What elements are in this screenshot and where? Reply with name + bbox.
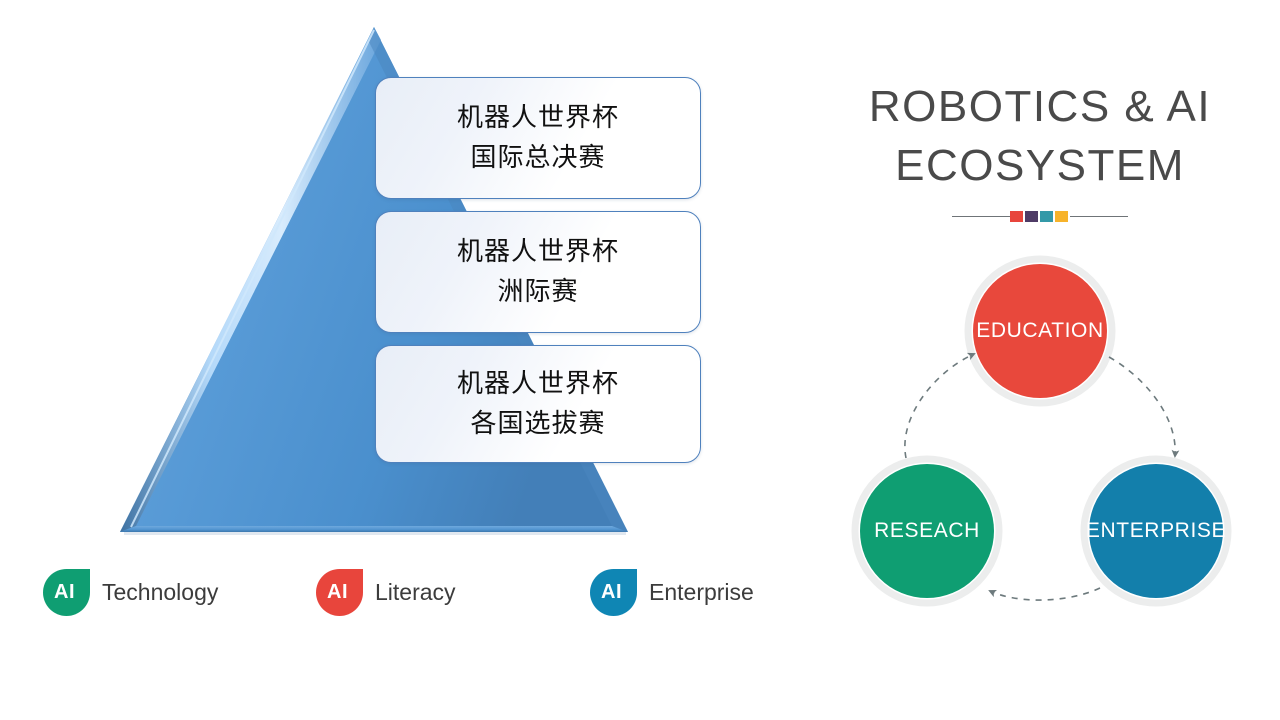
divider-square-teal — [1040, 211, 1053, 222]
divider-rule-left — [952, 216, 1010, 218]
divider-square-yellow — [1055, 211, 1068, 222]
title-line-1: ROBOTICS & AI — [820, 78, 1260, 137]
legend-item-literacy[interactable]: AI Literacy — [316, 569, 456, 616]
level-line-2: 各国选拔赛 — [470, 404, 605, 444]
legend-item-enterprise[interactable]: AI Enterprise — [590, 569, 754, 616]
level-line-1: 机器人世界杯 — [457, 232, 619, 272]
cycle-shapes — [830, 240, 1250, 620]
pyramid-level-box-international-final[interactable]: 机器人世界杯 国际总决赛 — [375, 77, 701, 199]
pyramid-level-box-continental[interactable]: 机器人世界杯 洲际赛 — [375, 211, 701, 333]
level-line-2: 洲际赛 — [497, 272, 578, 312]
ai-badge-label: AI — [54, 582, 75, 602]
ai-badge-icon: AI — [43, 569, 90, 616]
ai-badge-label: AI — [601, 582, 622, 602]
level-line-1: 机器人世界杯 — [457, 364, 619, 404]
divider-square-red — [1010, 211, 1023, 222]
pyramid-diagram: 机器人世界杯 国际总决赛 机器人世界杯 洲际赛 机器人世界杯 各国选拔赛 — [0, 0, 760, 560]
legend-item-technology[interactable]: AI Technology — [43, 569, 218, 616]
pyramid-level-box-national-trials[interactable]: 机器人世界杯 各国选拔赛 — [375, 345, 701, 463]
page-title: ROBOTICS & AI ECOSYSTEM — [820, 78, 1260, 224]
title-divider — [952, 210, 1128, 224]
legend-label: Literacy — [375, 579, 456, 606]
level-line-1: 机器人世界杯 — [457, 98, 619, 138]
level-line-2: 国际总决赛 — [470, 138, 605, 178]
divider-rule-right — [1070, 216, 1128, 218]
ai-badge-icon: AI — [590, 569, 637, 616]
ai-badge-label: AI — [327, 582, 348, 602]
slide-canvas: 机器人世界杯 国际总决赛 机器人世界杯 洲际赛 机器人世界杯 各国选拔赛 AI … — [0, 0, 1280, 720]
legend-label: Technology — [102, 579, 218, 606]
legend-label: Enterprise — [649, 579, 754, 606]
divider-square-purple — [1025, 211, 1038, 222]
ecosystem-cycle-diagram: EDUCATION RESEACH ENTERPRISE — [830, 240, 1250, 620]
legend: AI Technology AI Literacy AI Enterprise — [0, 560, 800, 630]
ai-badge-icon: AI — [316, 569, 363, 616]
title-line-2: ECOSYSTEM — [820, 137, 1260, 196]
